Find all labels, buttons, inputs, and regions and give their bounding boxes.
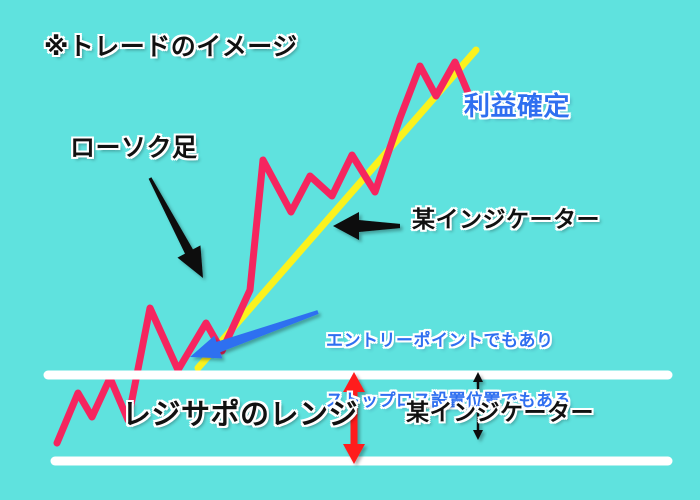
candlestick-pointer [149, 177, 203, 278]
indicator-label-bottom: 某インジケーター [406, 400, 594, 427]
indicator-pointer [333, 212, 400, 240]
entry-note-line-1: エントリーポイントでもあり [326, 331, 571, 351]
entry-stoploss-note: エントリーポイントでもあり ストップロス設置位置でもある [326, 291, 571, 451]
trade-image-diagram: ※トレードのイメージ ローソク足 利益確定 某インジケーター エントリーポイント… [0, 0, 700, 500]
indicator-label-top: 某インジケーター [412, 207, 600, 234]
range-label: レジサポのレンジ [122, 397, 358, 431]
candlestick-label: ローソク足 [70, 133, 198, 163]
take-profit-label: 利益確定 [464, 92, 570, 123]
diagram-title: ※トレードのイメージ [44, 32, 298, 62]
